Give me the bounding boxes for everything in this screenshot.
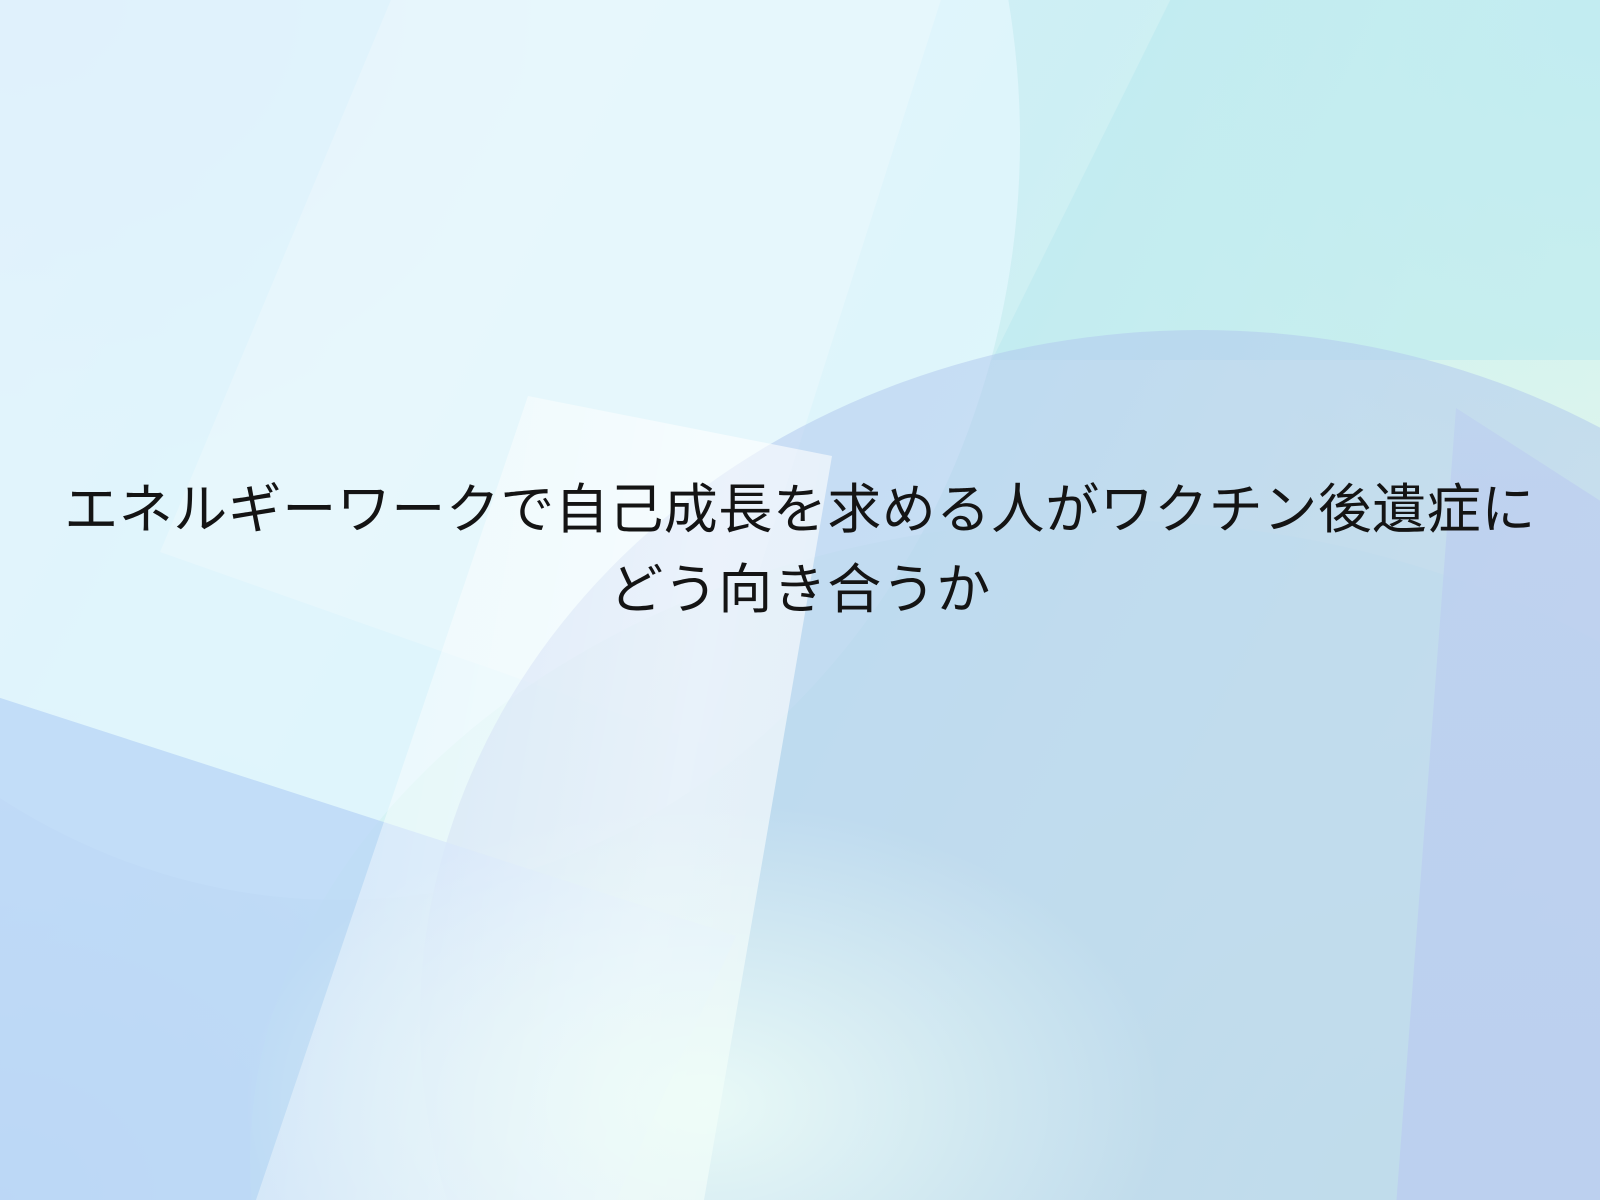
slide-title-line-1: エネルギーワークで自己成長を求める人がワクチン後遺症に	[40, 470, 1560, 550]
slide-title: エネルギーワークで自己成長を求める人がワクチン後遺症に どう向き合うか	[0, 470, 1600, 630]
slide-title-line-2: どう向き合うか	[40, 550, 1560, 630]
title-slide: エネルギーワークで自己成長を求める人がワクチン後遺症に どう向き合うか	[0, 0, 1600, 1200]
